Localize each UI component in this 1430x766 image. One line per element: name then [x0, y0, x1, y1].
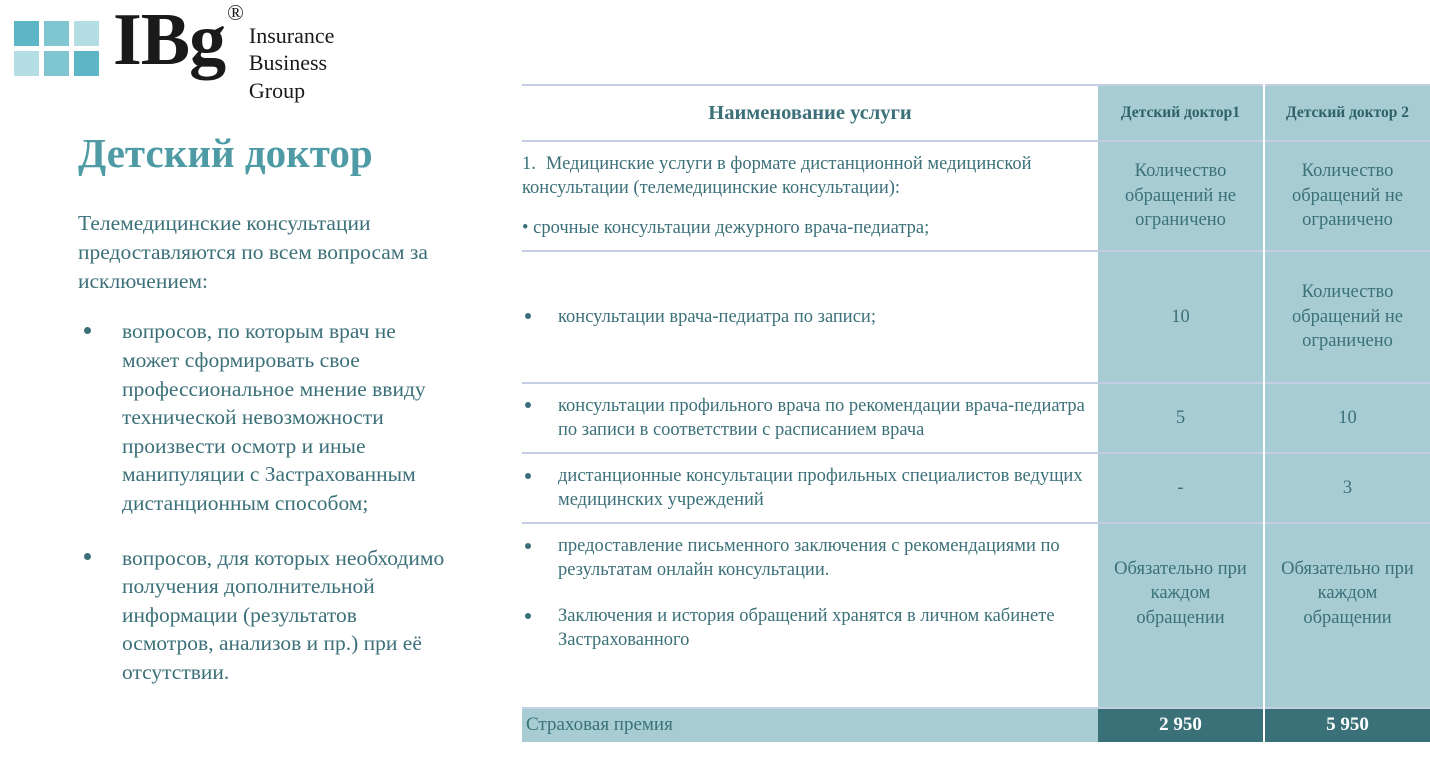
- table-header-row: Наименование услуги Детский доктор1 Детс…: [522, 85, 1430, 141]
- plan-1-value-cell: Обязательно при каждом обращении: [1098, 523, 1264, 662]
- logo-square-3: [74, 21, 99, 46]
- logo-square-2: [44, 21, 69, 46]
- service-description-cell: консультации профильного врача по рекоме…: [522, 383, 1098, 453]
- service-bullet-text: предоставление письменного заключения с …: [558, 536, 1060, 580]
- list-item: вопросов, по которым врач не может сформ…: [78, 317, 453, 517]
- column-header-service: Наименование услуги: [522, 85, 1098, 141]
- plan-2-value-cell: 10: [1264, 383, 1430, 453]
- bullet-dot-icon: [525, 543, 531, 549]
- service-bullet: предоставление письменного заключения с …: [522, 534, 1086, 582]
- service-bullet: Заключения и история обращений хранятся …: [522, 604, 1086, 652]
- table-row: консультации профильного врача по рекоме…: [522, 383, 1430, 453]
- spacer-cell: [1264, 663, 1430, 708]
- spacer-cell: [1098, 663, 1264, 708]
- list-item-text: вопросов, по которым врач не может сформ…: [122, 319, 426, 515]
- table-row: 1.Медицинские услуги в формате дистанцио…: [522, 141, 1430, 251]
- premium-plan-1-value: 2 950: [1098, 708, 1264, 742]
- item-number: 1.: [522, 154, 536, 174]
- service-bullet-text: консультации врача-педиатра по записи;: [558, 307, 876, 327]
- bullet-dot-icon: [525, 613, 531, 619]
- logo-tagline-line-3: Group: [249, 77, 335, 104]
- logo-square-5: [44, 51, 69, 76]
- bullet-dot-icon: [525, 313, 531, 319]
- plan-2-value-cell: Количество обращений не ограничено: [1264, 251, 1430, 383]
- plan-2-value-cell: 3: [1264, 453, 1430, 523]
- table-foot: Страховая премия 2 950 5 950: [522, 708, 1430, 742]
- logo-square-4: [14, 51, 39, 76]
- column-header-plan-2: Детский доктор 2: [1264, 85, 1430, 141]
- plan-2-value-cell: Количество обращений не ограничено: [1264, 141, 1430, 251]
- service-description-cell: дистанционные консультации профильных сп…: [522, 453, 1098, 523]
- service-description-cell: предоставление письменного заключения с …: [522, 523, 1098, 662]
- service-bullet-text: дистанционные консультации профильных сп…: [558, 466, 1083, 510]
- service-description-cell: 1.Медицинские услуги в формате дистанцио…: [522, 141, 1098, 251]
- list-item: вопросов, для которых необходимо получен…: [78, 544, 453, 687]
- table-body: 1.Медицинские услуги в формате дистанцио…: [522, 141, 1430, 708]
- intro-paragraph: Телемедицинские консультации предоставля…: [78, 209, 436, 295]
- bullet-dot-icon: [84, 327, 91, 334]
- logo-tagline: Insurance Business Group: [249, 22, 335, 104]
- numbered-paragraph: 1.Медицинские услуги в формате дистанцио…: [522, 152, 1086, 200]
- table-spacer-row: [522, 663, 1430, 708]
- service-bullet: консультации врача-педиатра по записи;: [522, 305, 1086, 329]
- service-bullet: консультации профильного врача по рекоме…: [522, 394, 1086, 442]
- logo-square-6: [74, 51, 99, 76]
- premium-row: Страховая премия 2 950 5 950: [522, 708, 1430, 742]
- logo-square-1: [14, 21, 39, 46]
- logo-wordmark-text: IBg: [113, 0, 225, 81]
- services-table-wrapper: Наименование услуги Детский доктор1 Детс…: [522, 84, 1430, 742]
- table-row: консультации врача-педиатра по записи; 1…: [522, 251, 1430, 383]
- premium-label: Страховая премия: [522, 708, 1098, 742]
- plan-1-value-cell: -: [1098, 453, 1264, 523]
- column-header-plan-1: Детский доктор1: [1098, 85, 1264, 141]
- table-row: дистанционные консультации профильных сп…: [522, 453, 1430, 523]
- bullet-dot-icon: [525, 473, 531, 479]
- logo-wordmark: IBg®: [113, 6, 241, 75]
- bullet-dot-icon: [84, 553, 91, 560]
- service-description-cell: консультации врача-педиатра по записи;: [522, 251, 1098, 383]
- spacer-cell: [522, 663, 1098, 708]
- brand-logo: IBg® Insurance Business Group: [14, 12, 334, 104]
- service-bullet-text: Заключения и история обращений хранятся …: [558, 606, 1055, 650]
- plan-1-value-cell: 10: [1098, 251, 1264, 383]
- plan-1-value-cell: Количество обращений не ограничено: [1098, 141, 1264, 251]
- left-panel: Детский доктор Телемедицинские консульта…: [78, 132, 453, 713]
- logo-tagline-line-2: Business: [249, 49, 335, 76]
- registered-trademark-icon: ®: [227, 0, 243, 25]
- table-head: Наименование услуги Детский доктор1 Детс…: [522, 85, 1430, 141]
- list-item-text: вопросов, для которых необходимо получен…: [122, 546, 444, 684]
- service-bullet-text: консультации профильного врача по рекоме…: [558, 396, 1085, 440]
- plan-1-value-cell: 5: [1098, 383, 1264, 453]
- logo-squares-grid: [14, 21, 99, 76]
- premium-plan-2-value: 5 950: [1264, 708, 1430, 742]
- service-bullet: дистанционные консультации профильных сп…: [522, 464, 1086, 512]
- item-text: Медицинские услуги в формате дистанционн…: [522, 154, 1032, 198]
- services-table: Наименование услуги Детский доктор1 Детс…: [522, 84, 1430, 742]
- exclusions-list: вопросов, по которым врач не может сформ…: [78, 317, 453, 686]
- logo-tagline-line-1: Insurance: [249, 22, 335, 49]
- bullet-dot-icon: [525, 402, 531, 408]
- inline-bullet-text: • срочные консультации дежурного врача-п…: [522, 216, 1086, 240]
- table-row: предоставление письменного заключения с …: [522, 523, 1430, 662]
- page-title: Детский доктор: [78, 132, 453, 175]
- plan-2-value-cell: Обязательно при каждом обращении: [1264, 523, 1430, 662]
